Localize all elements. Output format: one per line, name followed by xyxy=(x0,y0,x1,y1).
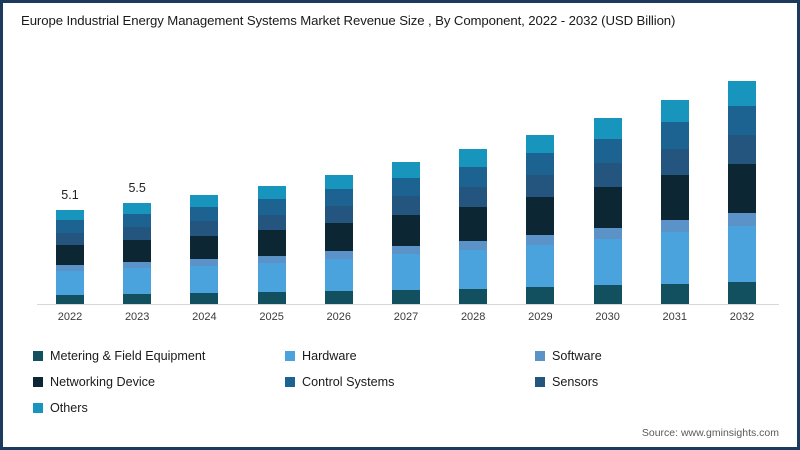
legend-label: Hardware xyxy=(302,349,357,363)
bar-segment-metering-field-equipment[interactable] xyxy=(190,293,218,304)
bar-value-label-2022: 5.1 xyxy=(40,188,100,202)
bar-segment-control-systems[interactable] xyxy=(325,206,353,223)
legend-swatch-icon-others xyxy=(33,403,43,413)
legend-row: Others xyxy=(33,395,773,421)
bar-segment-others[interactable] xyxy=(258,186,286,199)
bar-segment-networking-device[interactable] xyxy=(325,223,353,251)
bar-segment-software[interactable] xyxy=(392,246,420,254)
bar-segment-metering-field-equipment[interactable] xyxy=(325,291,353,304)
legend-row: Networking DeviceControl SystemsSensors xyxy=(33,369,773,395)
legend-item-metering-field-equipment[interactable]: Metering & Field Equipment xyxy=(33,349,285,363)
legend-label: Software xyxy=(552,349,602,363)
bar-segment-hardware[interactable] xyxy=(325,259,353,291)
bar-segment-control-systems[interactable] xyxy=(258,215,286,230)
bar-2028[interactable] xyxy=(459,149,487,304)
legend-item-software[interactable]: Software xyxy=(535,349,755,363)
bar-segment-software[interactable] xyxy=(594,228,622,239)
bar-segment-hardware[interactable] xyxy=(459,250,487,289)
legend-item-sensors[interactable]: Sensors xyxy=(535,375,755,389)
x-tick-2032: 2032 xyxy=(712,311,772,323)
bar-segment-networking-device[interactable] xyxy=(258,230,286,256)
bar-2026[interactable] xyxy=(325,175,353,304)
bar-2022[interactable] xyxy=(56,210,84,304)
bar-segment-networking-device[interactable] xyxy=(392,215,420,246)
bar-segment-control-systems[interactable] xyxy=(661,149,689,176)
bar-segment-sensors[interactable] xyxy=(392,178,420,196)
bar-segment-sensors[interactable] xyxy=(728,106,756,135)
bar-segment-hardware[interactable] xyxy=(661,232,689,283)
bar-segment-networking-device[interactable] xyxy=(594,187,622,228)
bar-segment-control-systems[interactable] xyxy=(526,175,554,197)
x-tick-2028: 2028 xyxy=(443,311,503,323)
bar-segment-metering-field-equipment[interactable] xyxy=(392,290,420,304)
bar-segment-networking-device[interactable] xyxy=(56,245,84,266)
bar-segment-networking-device[interactable] xyxy=(526,197,554,234)
bar-segment-control-systems[interactable] xyxy=(594,163,622,187)
bar-segment-control-systems[interactable] xyxy=(190,221,218,235)
bar-segment-others[interactable] xyxy=(190,195,218,207)
chart-figure: Europe Industrial Energy Management Syst… xyxy=(0,0,800,450)
bar-segment-networking-device[interactable] xyxy=(661,175,689,220)
bar-segment-sensors[interactable] xyxy=(459,167,487,187)
bar-2025[interactable] xyxy=(258,186,286,304)
plot-area: 5.15.5 xyxy=(37,61,777,304)
legend-label: Sensors xyxy=(552,375,598,389)
legend-item-networking-device[interactable]: Networking Device xyxy=(33,375,285,389)
bar-segment-software[interactable] xyxy=(526,235,554,245)
bar-segment-metering-field-equipment[interactable] xyxy=(459,289,487,304)
x-tick-2029: 2029 xyxy=(510,311,570,323)
legend-label: Metering & Field Equipment xyxy=(50,349,205,363)
bar-segment-control-systems[interactable] xyxy=(56,233,84,245)
bar-segment-others[interactable] xyxy=(728,81,756,105)
bar-segment-others[interactable] xyxy=(459,149,487,166)
bar-segment-sensors[interactable] xyxy=(325,189,353,206)
x-axis-line xyxy=(37,304,779,305)
bar-segment-control-systems[interactable] xyxy=(123,227,151,240)
bar-2029[interactable] xyxy=(526,135,554,304)
bar-2024[interactable] xyxy=(190,195,218,304)
bar-segment-others[interactable] xyxy=(526,135,554,154)
bar-2023[interactable] xyxy=(123,203,151,304)
bar-segment-hardware[interactable] xyxy=(594,239,622,286)
bar-segment-hardware[interactable] xyxy=(258,263,286,292)
chart-legend: Metering & Field EquipmentHardwareSoftwa… xyxy=(33,343,773,421)
legend-item-hardware[interactable]: Hardware xyxy=(285,349,535,363)
x-tick-2025: 2025 xyxy=(242,311,302,323)
bar-segment-others[interactable] xyxy=(661,100,689,122)
legend-item-others[interactable]: Others xyxy=(33,401,285,415)
legend-swatch-icon-sensors xyxy=(535,377,545,387)
bar-segment-hardware[interactable] xyxy=(190,266,218,293)
bar-segment-metering-field-equipment[interactable] xyxy=(123,294,151,304)
legend-swatch-icon-metering-field-equipment xyxy=(33,351,43,361)
bar-segment-networking-device[interactable] xyxy=(123,240,151,262)
bar-segment-networking-device[interactable] xyxy=(728,164,756,213)
x-tick-2027: 2027 xyxy=(376,311,436,323)
bar-segment-control-systems[interactable] xyxy=(459,187,487,207)
bar-segment-hardware[interactable] xyxy=(56,271,84,295)
bar-segment-others[interactable] xyxy=(594,118,622,138)
bar-segment-sensors[interactable] xyxy=(594,139,622,163)
bar-2030[interactable] xyxy=(594,118,622,304)
bar-segment-sensors[interactable] xyxy=(526,153,554,175)
bar-segment-metering-field-equipment[interactable] xyxy=(594,285,622,304)
legend-swatch-icon-software xyxy=(535,351,545,361)
bar-segment-others[interactable] xyxy=(56,210,84,220)
bar-segment-networking-device[interactable] xyxy=(459,207,487,241)
legend-label: Networking Device xyxy=(50,375,155,389)
legend-row: Metering & Field EquipmentHardwareSoftwa… xyxy=(33,343,773,369)
x-tick-2030: 2030 xyxy=(578,311,638,323)
bar-2031[interactable] xyxy=(661,100,689,304)
x-tick-2024: 2024 xyxy=(174,311,234,323)
bar-segment-sensors[interactable] xyxy=(190,207,218,221)
bar-segment-software[interactable] xyxy=(728,213,756,226)
bar-segment-sensors[interactable] xyxy=(56,220,84,232)
x-tick-2022: 2022 xyxy=(40,311,100,323)
bar-2032[interactable] xyxy=(728,81,756,304)
bar-segment-others[interactable] xyxy=(325,175,353,189)
bar-segment-sensors[interactable] xyxy=(123,214,151,227)
legend-label: Control Systems xyxy=(302,375,394,389)
bar-segment-software[interactable] xyxy=(661,220,689,232)
legend-item-control-systems[interactable]: Control Systems xyxy=(285,375,535,389)
x-tick-2026: 2026 xyxy=(309,311,369,323)
bar-segment-metering-field-equipment[interactable] xyxy=(526,287,554,304)
bar-segment-control-systems[interactable] xyxy=(728,135,756,164)
bar-segment-control-systems[interactable] xyxy=(392,196,420,214)
bar-2027[interactable] xyxy=(392,162,420,304)
bar-value-label-2023: 5.5 xyxy=(107,181,167,195)
bar-segment-hardware[interactable] xyxy=(728,226,756,282)
bar-segment-metering-field-equipment[interactable] xyxy=(56,295,84,304)
bar-segment-metering-field-equipment[interactable] xyxy=(258,292,286,304)
legend-label: Others xyxy=(50,401,88,415)
chart-title: Europe Industrial Energy Management Syst… xyxy=(21,13,791,28)
bar-segment-sensors[interactable] xyxy=(661,122,689,149)
bar-segment-networking-device[interactable] xyxy=(190,236,218,260)
bar-segment-others[interactable] xyxy=(123,203,151,214)
bar-segment-hardware[interactable] xyxy=(526,245,554,287)
bar-segment-hardware[interactable] xyxy=(392,254,420,290)
bar-segment-hardware[interactable] xyxy=(123,268,151,293)
legend-swatch-icon-control-systems xyxy=(285,377,295,387)
x-tick-2023: 2023 xyxy=(107,311,167,323)
bar-segment-software[interactable] xyxy=(258,256,286,263)
bar-segment-metering-field-equipment[interactable] xyxy=(728,282,756,304)
bar-segment-software[interactable] xyxy=(459,241,487,250)
source-attribution: Source: www.gminsights.com xyxy=(642,427,779,439)
bar-segment-others[interactable] xyxy=(392,162,420,178)
bar-segment-metering-field-equipment[interactable] xyxy=(661,284,689,304)
x-tick-2031: 2031 xyxy=(645,311,705,323)
bar-segment-sensors[interactable] xyxy=(258,199,286,214)
bar-segment-software[interactable] xyxy=(325,251,353,259)
legend-swatch-icon-hardware xyxy=(285,351,295,361)
legend-swatch-icon-networking-device xyxy=(33,377,43,387)
